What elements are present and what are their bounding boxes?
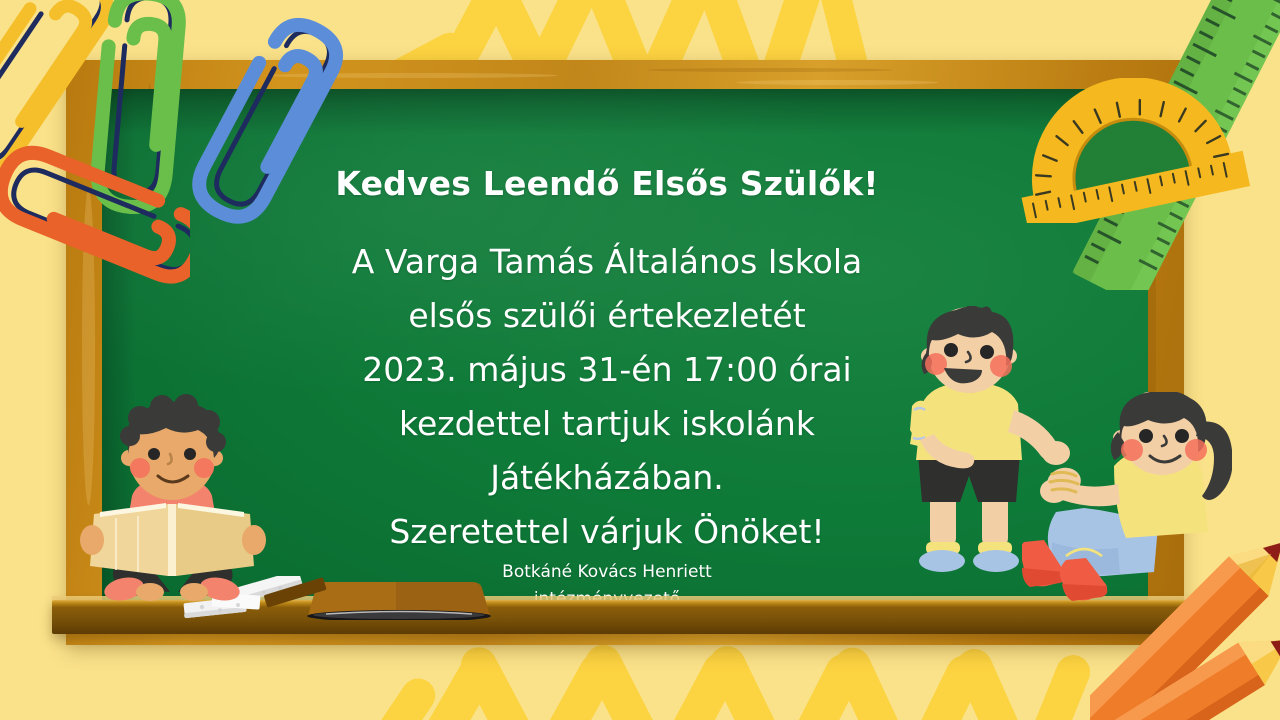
child-reading-book [78,392,278,622]
protractor-icon [1010,78,1260,223]
paperclip-orange-icon [0,86,190,376]
chalkboard-eraser-icon [300,578,500,620]
poster-canvas: Kedves Leendő Elsős Szülők! A Varga Tamá… [0,0,1280,720]
pencil-lower-icon [1078,614,1280,720]
paperclip-blue-icon [168,4,378,304]
handshake-icon [1036,458,1096,508]
